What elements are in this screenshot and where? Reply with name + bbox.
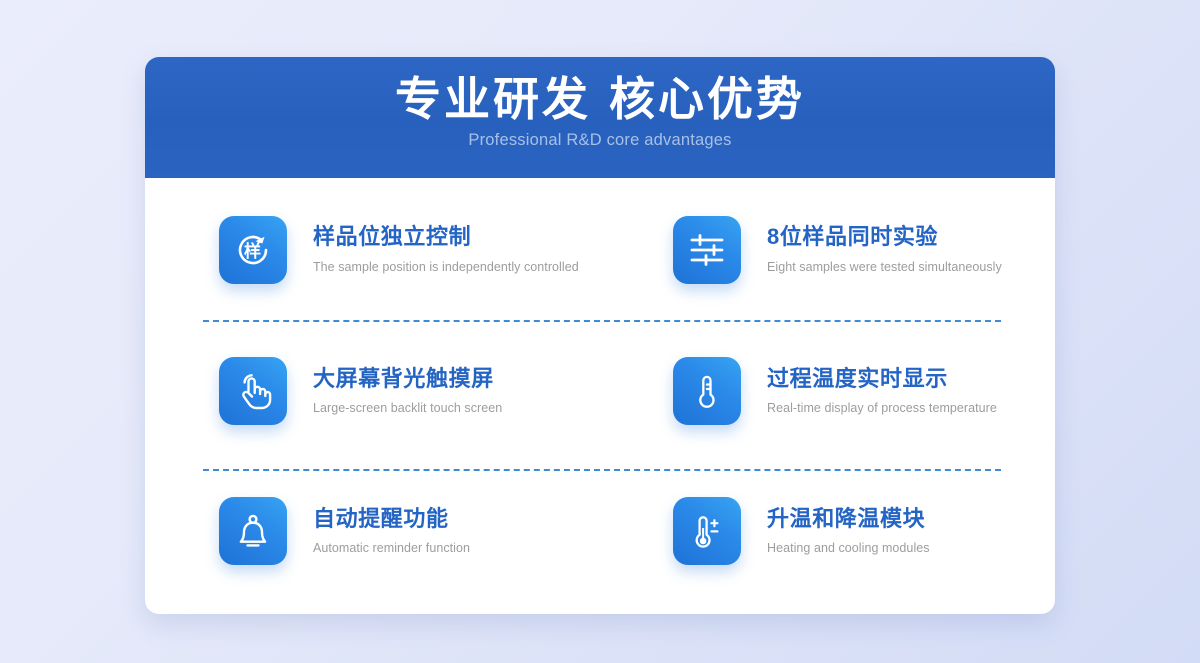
feature-title: 自动提醒功能 [313,506,470,532]
page-title-part2: 核心优势 [609,74,805,125]
feature-item-sample-position[interactable]: 样 样品位独立控制 The sample position is indepen… [145,178,600,321]
sliders-icon [673,216,741,284]
page-title: 专业研发核心优势 [395,76,805,124]
svg-text:样: 样 [244,241,261,261]
feature-subtitle: Heating and cooling modules [767,541,930,556]
feature-item-touch-screen[interactable]: 大屏幕背光触摸屏 Large-screen backlit touch scre… [145,321,600,461]
page-subtitle: Professional R&D core advantages [468,131,731,150]
feature-title: 大屏幕背光触摸屏 [313,366,502,392]
feature-item-heating-cooling[interactable]: 升温和降温模块 Heating and cooling modules [600,461,1055,601]
thermometer-icon [673,357,741,425]
feature-text: 升温和降温模块 Heating and cooling modules [767,506,930,556]
feature-row: 样 样品位独立控制 The sample position is indepen… [145,178,1055,321]
feature-subtitle: Eight samples were tested simultaneously [767,260,1002,275]
feature-subtitle: Real-time display of process temperature [767,401,997,416]
feature-text: 大屏幕背光触摸屏 Large-screen backlit touch scre… [313,366,502,416]
card-header-banner: 专业研发核心优势 Professional R&D core advantage… [145,57,1055,178]
feature-title: 样品位独立控制 [313,224,579,250]
page-title-part1: 专业研发 [395,74,591,125]
feature-subtitle: The sample position is independently con… [313,260,579,275]
touch-hand-icon [219,357,287,425]
feature-item-process-temperature[interactable]: 过程温度实时显示 Real-time display of process te… [600,321,1055,461]
advantages-card: 专业研发核心优势 Professional R&D core advantage… [145,57,1055,614]
feature-text: 8位样品同时实验 Eight samples were tested simul… [767,224,1002,274]
bell-icon [219,497,287,565]
feature-title: 8位样品同时实验 [767,224,1002,250]
sample-rotate-icon: 样 [219,216,287,284]
feature-row: 大屏幕背光触摸屏 Large-screen backlit touch scre… [145,321,1055,461]
feature-subtitle: Automatic reminder function [313,541,470,556]
features-grid: 样 样品位独立控制 The sample position is indepen… [145,178,1055,601]
feature-item-auto-reminder[interactable]: 自动提醒功能 Automatic reminder function [145,461,600,601]
feature-row: 自动提醒功能 Automatic reminder function [145,461,1055,601]
feature-subtitle: Large-screen backlit touch screen [313,401,502,416]
feature-title: 过程温度实时显示 [767,366,997,392]
feature-title: 升温和降温模块 [767,506,930,532]
feature-text: 样品位独立控制 The sample position is independe… [313,224,579,274]
thermometer-plus-minus-icon [673,497,741,565]
feature-text: 自动提醒功能 Automatic reminder function [313,506,470,556]
feature-text: 过程温度实时显示 Real-time display of process te… [767,366,997,416]
feature-item-eight-samples[interactable]: 8位样品同时实验 Eight samples were tested simul… [600,178,1055,321]
